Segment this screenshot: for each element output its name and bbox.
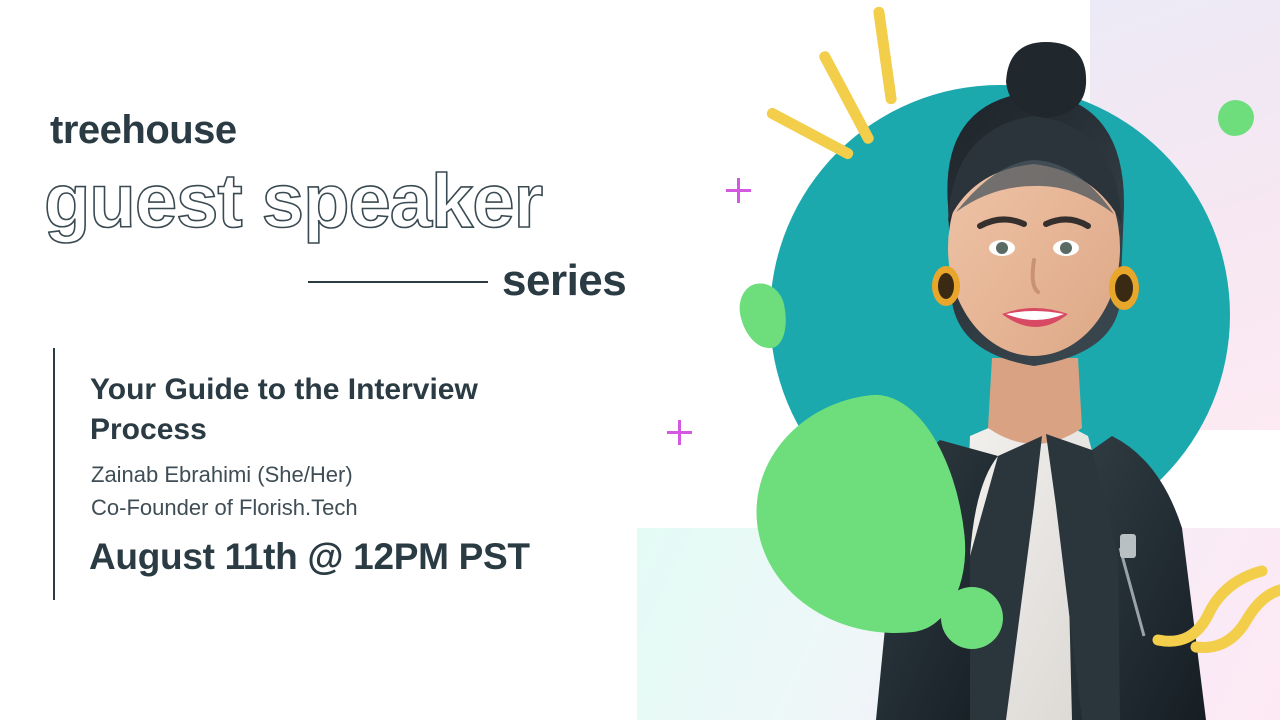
series-label: series — [502, 256, 626, 306]
session-datetime: August 11th @ 12PM PST — [89, 536, 530, 578]
session-title: Your Guide to the Interview Process — [90, 370, 520, 449]
green-circle-shape — [941, 587, 1003, 649]
plus-mark-icon — [667, 420, 692, 445]
series-divider — [308, 281, 488, 283]
vertical-accent-rule — [53, 348, 55, 600]
squiggle-stroke-icon — [1150, 555, 1280, 685]
speaker-name: Zainab Ebrahimi (She/Her) — [91, 462, 353, 488]
speaker-role: Co-Founder of Florish.Tech — [91, 495, 358, 521]
brand-wordmark: treehouse — [50, 108, 237, 153]
hero-headline: guest speaker — [44, 164, 542, 240]
plus-mark-icon — [726, 178, 751, 203]
promo-slide: treehouse guest speaker series Your Guid… — [0, 0, 1280, 720]
